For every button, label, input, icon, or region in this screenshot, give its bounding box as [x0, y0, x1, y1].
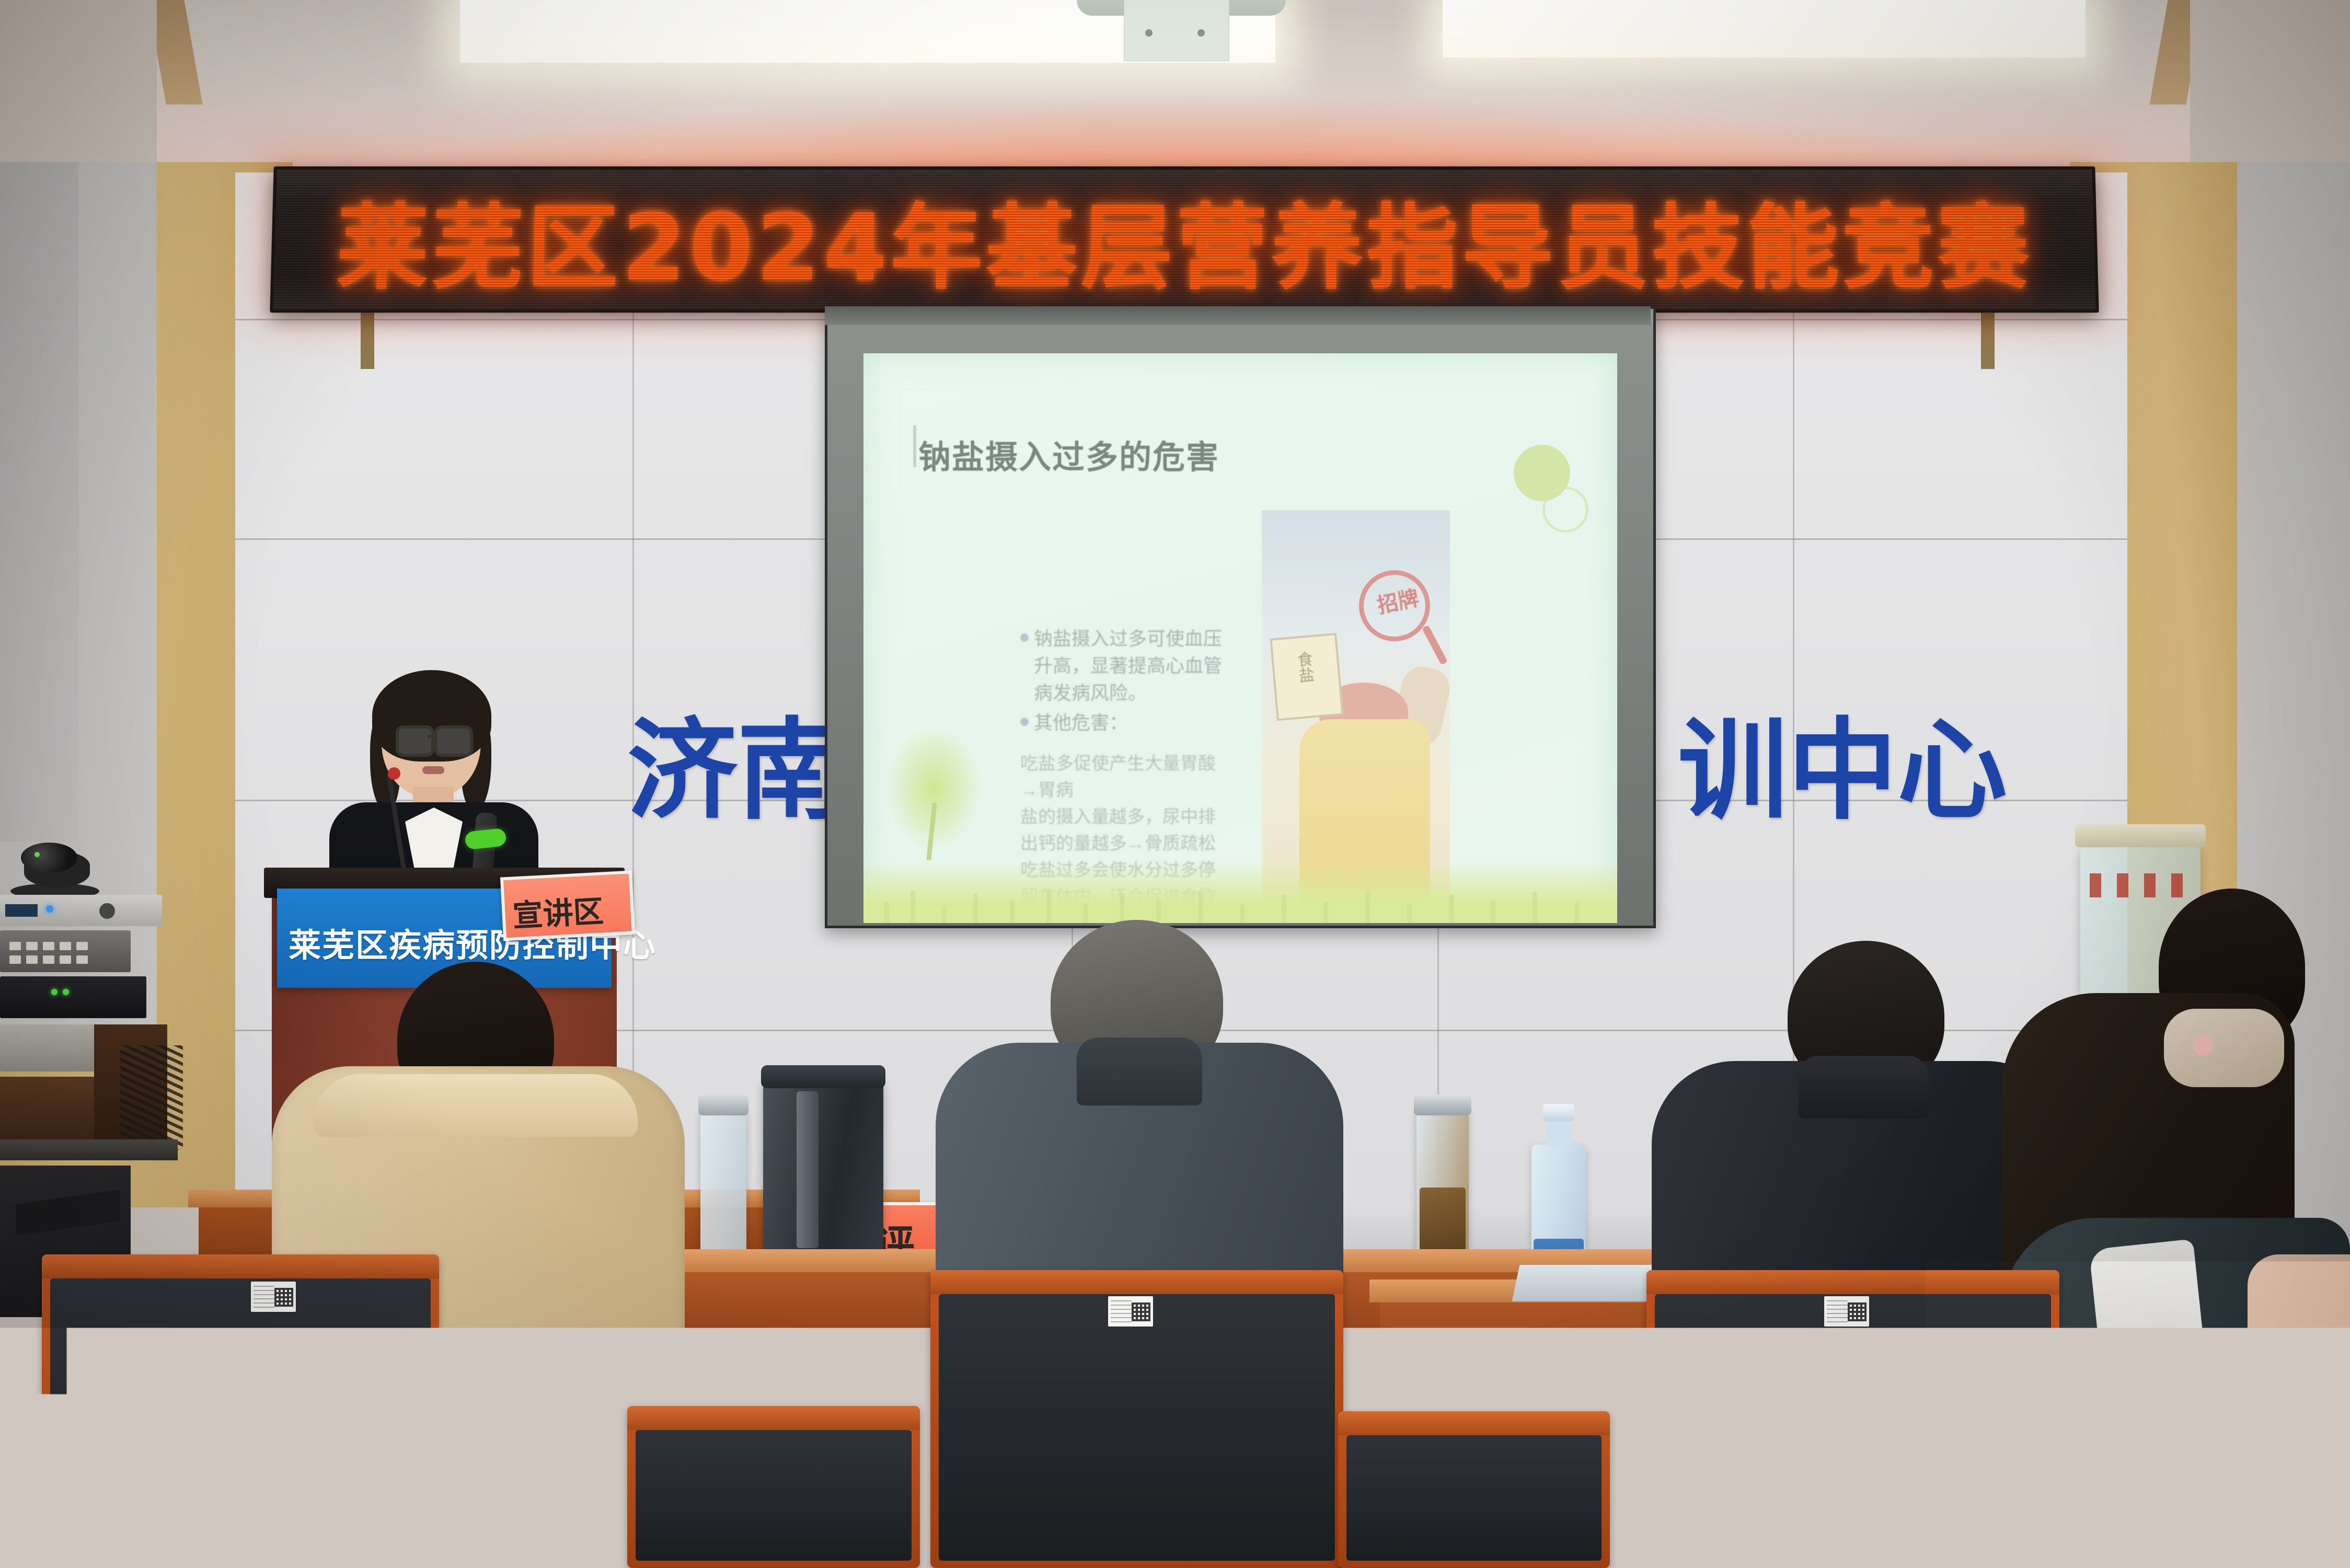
projection-screen-roller — [825, 306, 1651, 325]
audience-collar-front-left — [314, 1074, 638, 1137]
illustration-poster: 食盐 — [1270, 633, 1343, 721]
wall-left-grey-column-inner — [0, 162, 78, 841]
chair-asset-tag — [1824, 1296, 1869, 1327]
illustration-poster-text: 食盐 — [1291, 651, 1317, 684]
audience-collar-right — [1798, 1056, 1929, 1119]
eyeglasses-bridge — [428, 735, 436, 738]
av-unit-mixer[interactable] — [0, 895, 162, 926]
table-bottom — [617, 1463, 1923, 1568]
chair-left[interactable] — [42, 1254, 439, 1568]
audience-arm-far-right — [2248, 1254, 2350, 1568]
chair-asset-tag — [1108, 1296, 1153, 1327]
electric-kettle[interactable] — [763, 1077, 883, 1275]
slide-bullet-2: 其他危害： — [1020, 709, 1224, 736]
slide-title: 钠盐摄入过多的危害 — [918, 431, 1219, 478]
face-mask — [2089, 1239, 2207, 1390]
conference-room-photo: 济南市 训中心 莱芜区2024年基层营养指导员技能竞赛 钠盐摄入过多的危害 钠盐… — [0, 0, 2350, 1568]
led-banner: 莱芜区2024年基层营养指导员技能竞赛 — [270, 166, 2099, 313]
eyeglasses-icon-right — [434, 725, 473, 757]
ptz-camera-lens-icon — [21, 843, 77, 873]
speaker-mouth — [422, 766, 444, 774]
slide-title-rule — [913, 425, 916, 467]
ceiling-light-panel-right — [1443, 0, 2086, 57]
av-unit-matrix-switcher[interactable] — [0, 930, 131, 972]
slide-decor-tree — [879, 730, 989, 860]
led-banner-stand-right — [1981, 306, 1995, 369]
slide-decor-grass — [863, 860, 1617, 923]
ptz-camera-indicator — [34, 852, 40, 857]
eyeglasses-icon-left — [396, 725, 434, 757]
ceiling-beam-right — [2190, 0, 2350, 172]
scrunchie-button — [2193, 1035, 2214, 1056]
chair-asset-tag — [251, 1282, 296, 1312]
slide-decor-ring — [1542, 487, 1588, 533]
gooseneck-mic-indicator — [388, 767, 400, 780]
av-unit-power-sequencer[interactable] — [0, 976, 146, 1018]
presenter-area-card-text: 宣讲区 — [511, 886, 604, 935]
led-banner-stand-left — [361, 306, 374, 369]
projector-mount-plate — [1124, 0, 1229, 61]
ceiling-beam-left — [0, 0, 157, 172]
av-unit-amplifier[interactable] — [0, 1024, 105, 1071]
wall-signage-right: 训中心 — [1678, 716, 2007, 826]
presentation-slide: 钠盐摄入过多的危害 钠盐摄入过多可使血压升高，显著提高心血管病发病风险。 其他危… — [863, 353, 1617, 923]
audience-collar-center — [1077, 1037, 1202, 1105]
presenter-area-card: 宣讲区 — [500, 870, 635, 941]
slide-bullet-list: 钠盐摄入过多可使血压升高，显著提高心血管病发病风险。 其他危害： — [1020, 625, 1224, 739]
slide-bullet-1: 钠盐摄入过多可使血压升高，显著提高心血管病发病风险。 — [1020, 625, 1224, 707]
led-banner-text: 莱芜区2024年基层营养指导员技能竞赛 — [273, 169, 2095, 309]
hair-scrunchie — [2164, 1009, 2284, 1087]
magnifier-handle — [1422, 625, 1448, 665]
cable-bundle — [120, 1045, 183, 1150]
slide-subline-1: 吃盐多促使产生大量胃酸→胃病 — [1020, 751, 1229, 804]
av-cart-rail — [0, 1139, 178, 1160]
slide-subline-2: 盐的摄入量越多，尿中排出钙的量越多→骨质疏松 — [1020, 804, 1229, 857]
